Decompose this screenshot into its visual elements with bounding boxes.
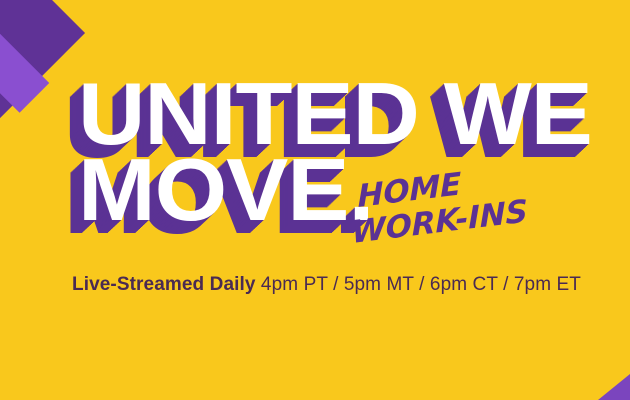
tagline-bold-part: Live-Streamed Daily: [72, 274, 256, 295]
tagline-regular-part: 4pm PT / 5pm MT / 6pm CT / 7pm ET: [256, 274, 581, 295]
tagline: Live-Streamed Daily 4pm PT / 5pm MT / 6p…: [72, 274, 581, 296]
poster-canvas: UNITED WE MOVE. HOME WORK-INS Live-Strea…: [0, 0, 630, 400]
script-headline-block: HOME WORK-INS: [352, 183, 582, 249]
bottom-right-corner-triangle: [598, 374, 630, 400]
